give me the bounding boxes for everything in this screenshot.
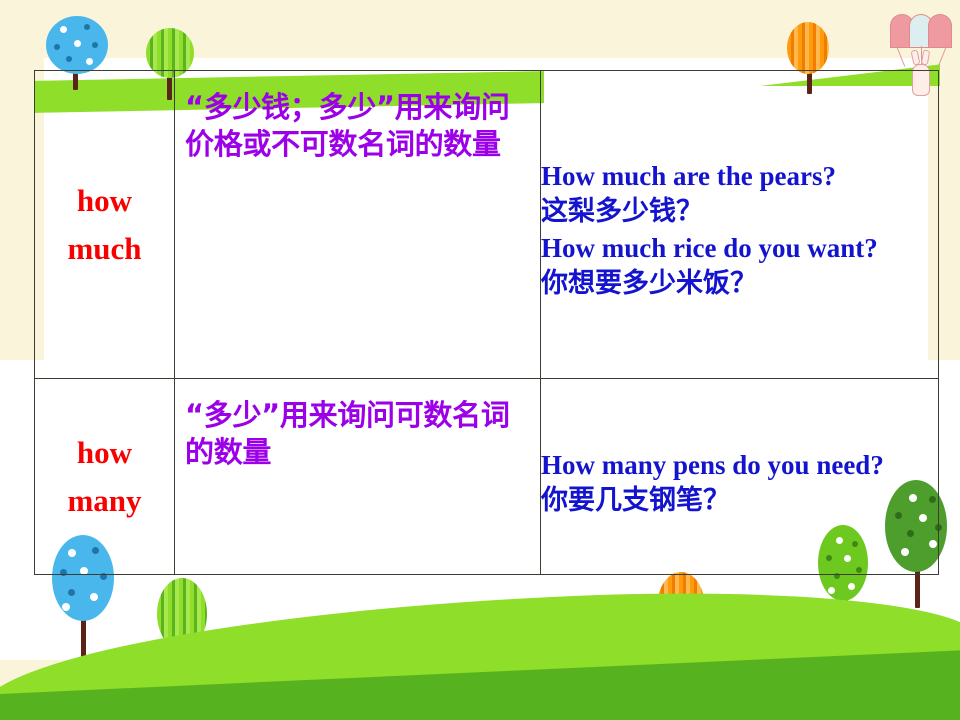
row-keyword-cell-how-many: how many: [35, 379, 175, 575]
table-row: how much “多少钱；多少”用来询问价格或不可数名词的数量 How muc…: [35, 71, 939, 379]
keyword-line-1: how: [35, 177, 174, 225]
row-examples-cell-how-much: How much are the pears? 这梨多少钱？ How much …: [541, 71, 939, 379]
row-examples-cell-how-many: How many pens do you need? 你要几支钢笔？: [541, 379, 939, 575]
grammar-comparison-table: how much “多少钱；多少”用来询问价格或不可数名词的数量 How muc…: [34, 70, 939, 575]
example-cn-1: 这梨多少钱？: [541, 195, 938, 229]
row-definition-cell-how-much: “多少钱；多少”用来询问价格或不可数名词的数量: [175, 71, 541, 379]
keyword-line-1: how: [35, 429, 174, 477]
definition-text: “多少”用来询问可数名词的数量: [175, 393, 540, 475]
slide-stage: how much “多少钱；多少”用来询问价格或不可数名词的数量 How muc…: [0, 0, 960, 720]
definition-text: “多少钱；多少”用来询问价格或不可数名词的数量: [175, 85, 540, 167]
row-keyword-cell-how-much: how much: [35, 71, 175, 379]
table-row: how many “多少”用来询问可数名词的数量 How many pens d…: [35, 379, 939, 575]
keyword-line-2: much: [35, 225, 174, 273]
keyword-line-2: many: [35, 477, 174, 525]
example-cn-1: 你要几支钢笔？: [541, 484, 938, 518]
example-en-1: How much are the pears?: [541, 157, 841, 195]
example-en-1: How many pens do you need?: [541, 446, 911, 484]
parachute-canopy: [890, 14, 952, 48]
example-en-2: How much rice do you want?: [541, 229, 901, 267]
example-cn-2: 你想要多少米饭？: [541, 267, 938, 301]
row-definition-cell-how-many: “多少”用来询问可数名词的数量: [175, 379, 541, 575]
